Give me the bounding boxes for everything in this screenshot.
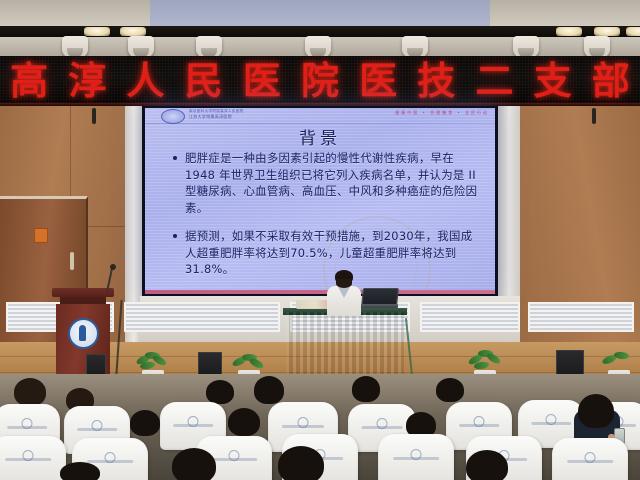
audience-chair[interactable] bbox=[0, 436, 66, 480]
led-char: 高 bbox=[10, 62, 48, 100]
acoustic-panel bbox=[420, 302, 520, 332]
ceiling-spotlight bbox=[402, 36, 428, 58]
led-char: 支 bbox=[534, 62, 572, 100]
slide-org-name: 南京医科大学附属高淳人民医院 江苏大学附属高淳医院 bbox=[189, 109, 244, 119]
ceiling bbox=[0, 0, 640, 56]
slide-bullet-list: 肥胖症是一种由多因素引起的慢性代谢性疾病，早在 1948 年世界卫生组织已将它列… bbox=[171, 150, 483, 290]
led-char: 部 bbox=[592, 62, 630, 100]
laptop[interactable] bbox=[360, 288, 398, 310]
led-char: 民 bbox=[185, 62, 223, 100]
slide-accent-bar bbox=[145, 290, 495, 294]
attendee-head bbox=[206, 380, 234, 404]
led-banner: 高淳人民医院医技二支部 bbox=[0, 56, 640, 108]
attendee-head bbox=[278, 446, 324, 480]
led-char: 二 bbox=[475, 62, 513, 100]
ceiling-spotlight bbox=[196, 36, 222, 58]
plant-leaf bbox=[248, 357, 265, 370]
wall-seam bbox=[520, 106, 640, 107]
ceiling-spotlight bbox=[305, 36, 331, 58]
acoustic-panel bbox=[528, 302, 634, 332]
chair-logo-icon bbox=[105, 452, 116, 463]
led-char: 人 bbox=[126, 62, 164, 100]
attendee-head bbox=[228, 408, 260, 436]
ceiling-sensor bbox=[592, 108, 596, 124]
audience-area bbox=[0, 374, 640, 480]
auditorium-photo: 高淳人民医院医技二支部 南京医科大学附属高淳人民医院 江苏大学附属高淳医院 健康… bbox=[0, 0, 640, 480]
attendee-head bbox=[60, 462, 100, 480]
lectern-neck bbox=[60, 297, 106, 304]
presenter-table-skirt bbox=[286, 312, 404, 374]
lectern-top bbox=[52, 288, 114, 297]
chair-logo-icon bbox=[229, 450, 240, 461]
chair-logo-icon bbox=[92, 420, 103, 431]
chair-logo-icon bbox=[22, 418, 33, 429]
attendee-head bbox=[466, 450, 508, 480]
recessed-light bbox=[594, 27, 620, 36]
audience-chair[interactable] bbox=[552, 438, 628, 480]
hospital-emblem-icon bbox=[68, 318, 99, 349]
attendee-head bbox=[436, 378, 464, 402]
door-handle-icon[interactable] bbox=[70, 252, 74, 270]
ceiling-spotlight bbox=[584, 36, 610, 58]
wall-sign bbox=[34, 228, 48, 243]
ceiling-glow bbox=[150, 0, 490, 26]
chair-logo-icon bbox=[298, 417, 309, 428]
ceiling-spotlight bbox=[128, 36, 154, 58]
recessed-light bbox=[120, 27, 146, 36]
presentation-slide: 南京医科大学附属高淳人民医院 江苏大学附属高淳医院 健康中国 • 合理膳食 • … bbox=[145, 108, 495, 294]
recessed-light bbox=[84, 27, 110, 36]
attendee-head bbox=[14, 378, 46, 406]
laptop-keyboard bbox=[360, 304, 398, 308]
attendee-head bbox=[130, 410, 160, 436]
slide-bullet-1: 肥胖症是一种由多因素引起的慢性代谢性疾病，早在 1948 年世界卫生组织已将它列… bbox=[171, 150, 483, 216]
attendee-head bbox=[254, 376, 284, 404]
slide-header-right-text: 健康中国 • 合理膳食 • 全民行动 bbox=[395, 110, 489, 116]
attendee-head bbox=[578, 394, 614, 428]
recessed-light bbox=[556, 27, 582, 36]
ceiling-spotlight bbox=[62, 36, 88, 58]
led-banner-text: 高淳人民医院医技二支部 bbox=[0, 56, 640, 106]
attendee-head bbox=[352, 376, 380, 402]
hospital-logo-icon bbox=[161, 109, 185, 124]
recessed-light bbox=[626, 27, 640, 36]
presenter bbox=[327, 272, 361, 314]
ceiling-spotlight bbox=[513, 36, 539, 58]
slide-bullet-2: 据预测，如果不采取有效干预措施，到2030年，我国成人超重肥胖率将达到70.5%… bbox=[171, 228, 483, 278]
chair-logo-icon bbox=[546, 414, 557, 425]
led-char: 医 bbox=[243, 62, 281, 100]
wall-seam bbox=[520, 107, 521, 375]
plant-leaf bbox=[474, 361, 490, 370]
slide-org-line1: 南京医科大学附属高淳人民医院 bbox=[189, 109, 244, 113]
slide-org-line2: 江苏大学附属高淳医院 bbox=[189, 114, 244, 119]
ceiling-sensor bbox=[92, 108, 96, 124]
chair-logo-icon bbox=[23, 450, 34, 461]
chair-logo-icon bbox=[411, 449, 422, 460]
microphone-icon bbox=[110, 264, 116, 270]
chair-logo-icon bbox=[585, 452, 596, 463]
led-char: 技 bbox=[417, 62, 455, 100]
presenter-hair-back bbox=[336, 279, 352, 288]
slide-title: 背景 bbox=[145, 124, 495, 149]
chair-logo-icon bbox=[474, 416, 485, 427]
attendee-head bbox=[172, 448, 216, 480]
led-char: 院 bbox=[301, 62, 339, 100]
audience-chair[interactable] bbox=[378, 434, 454, 480]
right-wood-wall bbox=[520, 106, 640, 374]
led-char: 医 bbox=[359, 62, 397, 100]
acoustic-panel bbox=[124, 302, 280, 332]
chair-logo-icon bbox=[377, 418, 388, 429]
chair-logo-icon bbox=[188, 416, 199, 427]
led-char: 淳 bbox=[68, 62, 106, 100]
